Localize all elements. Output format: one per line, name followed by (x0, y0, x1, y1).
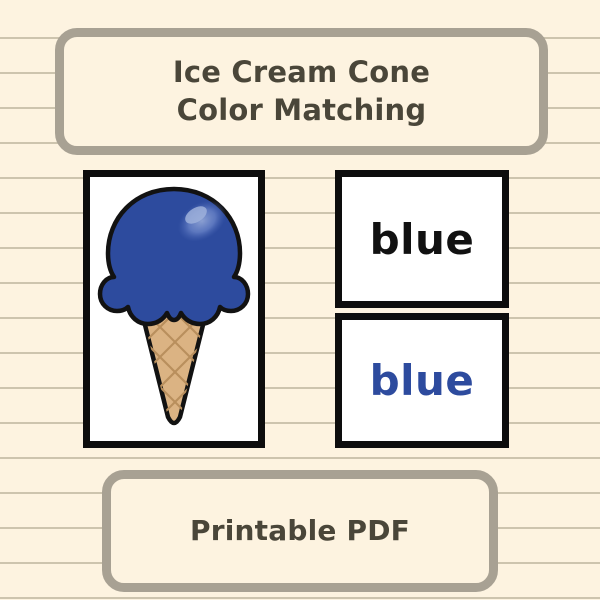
word-label-black: blue (370, 215, 475, 264)
ice-cream-cone-icon (90, 177, 258, 441)
page-title-line-1: Ice Cream Cone (173, 54, 430, 91)
printable-pdf-label: Printable PDF (190, 513, 410, 549)
page-title-line-2: Color Matching (177, 92, 427, 129)
ice-cream-picture-card[interactable] (83, 170, 265, 448)
printable-poster: Ice Cream Cone Color Matching (0, 0, 600, 600)
word-card-black[interactable]: blue (335, 170, 509, 308)
title-banner: Ice Cream Cone Color Matching (55, 28, 548, 155)
footer-banner: Printable PDF (102, 470, 498, 592)
ice-cream-scoop (100, 189, 248, 324)
word-label-blue: blue (370, 356, 475, 405)
word-card-blue[interactable]: blue (335, 313, 509, 448)
